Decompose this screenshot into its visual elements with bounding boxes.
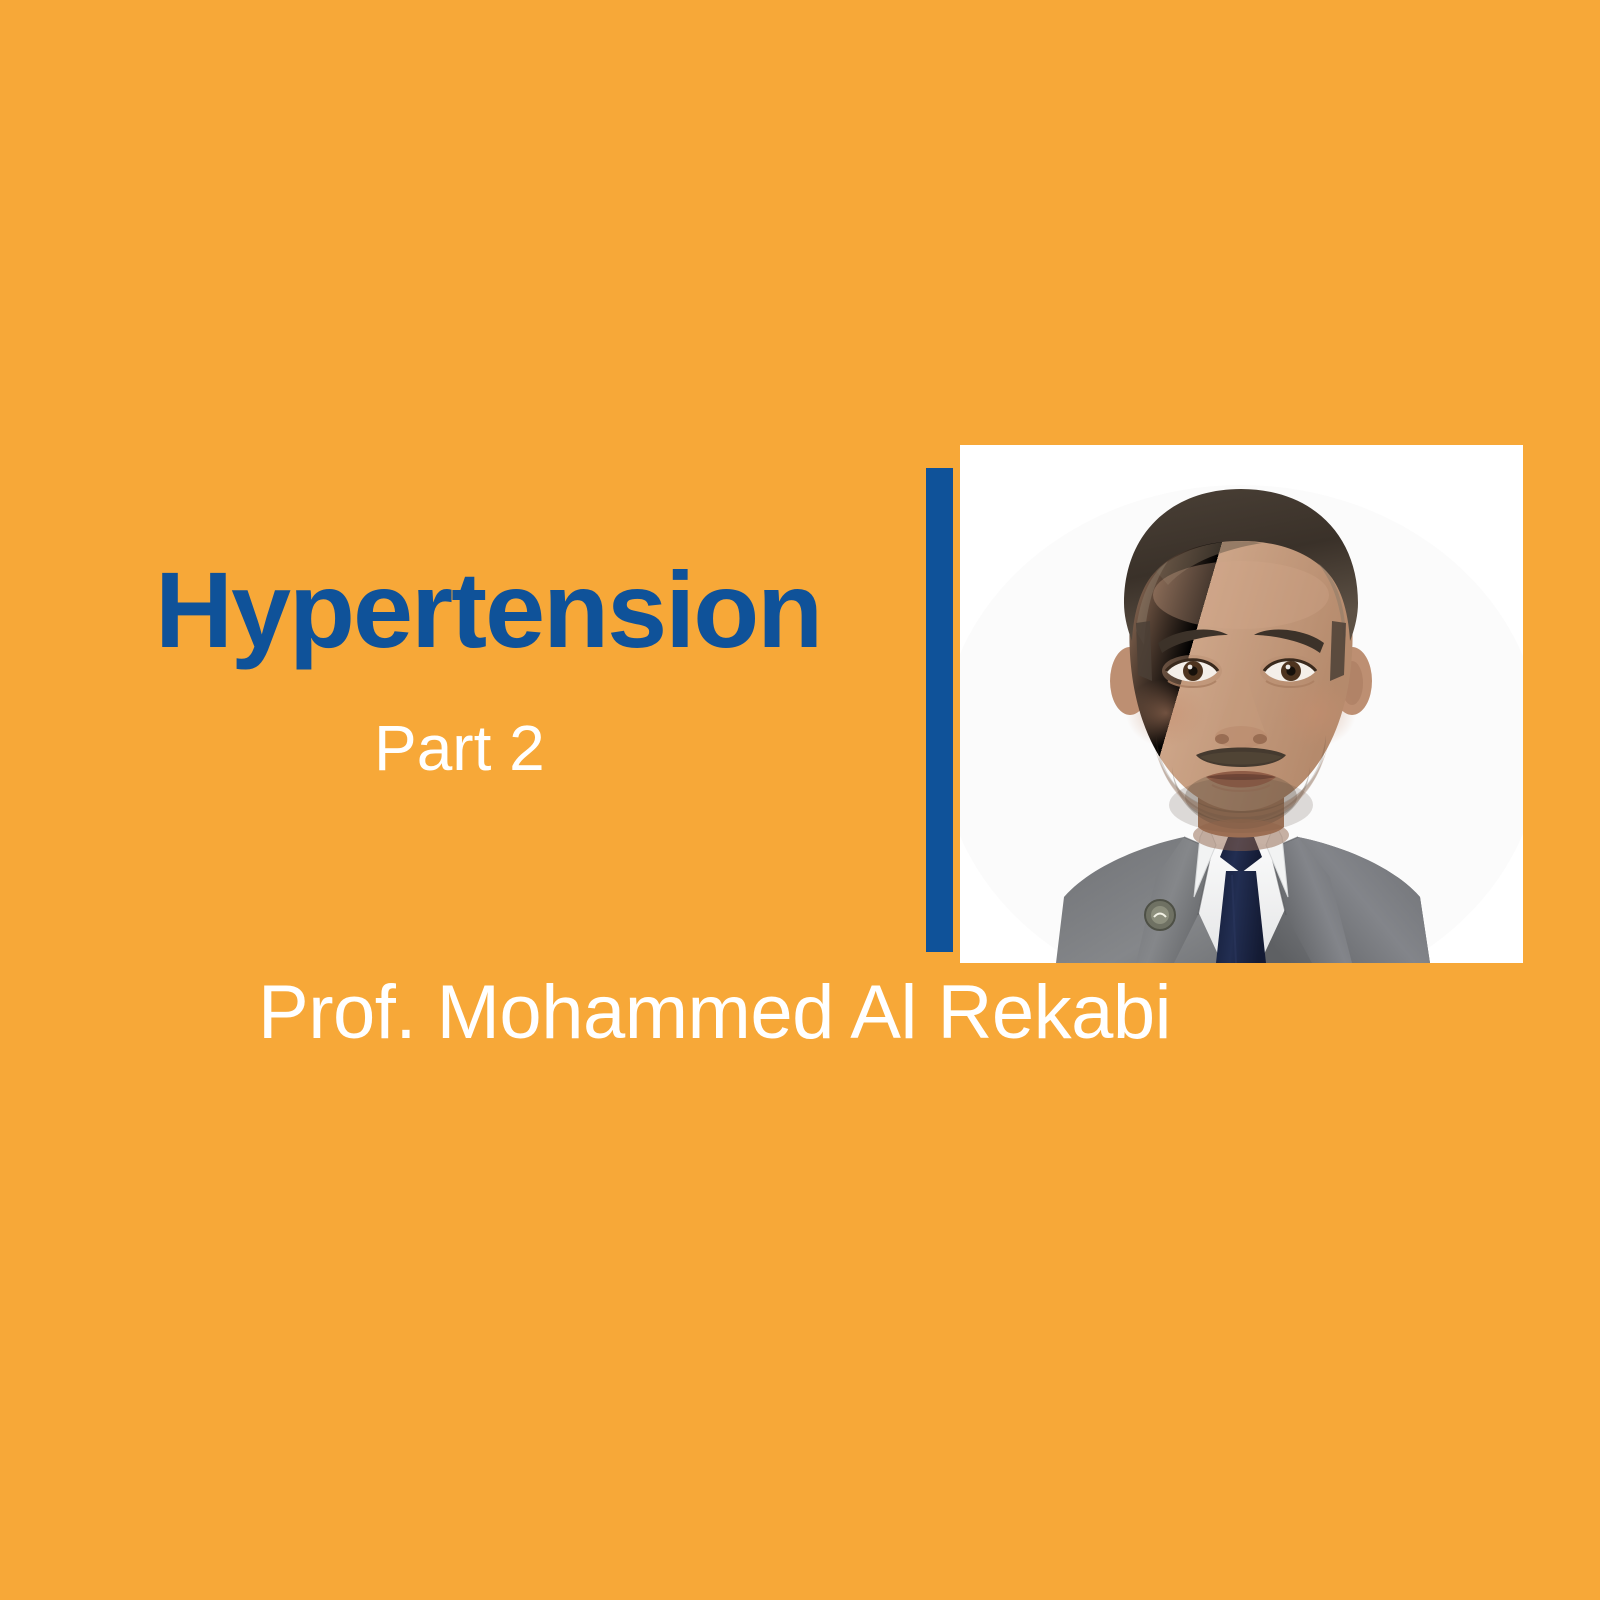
page-title: Hypertension xyxy=(155,556,821,664)
presenter-name: Prof. Mohammed Al Rekabi xyxy=(258,975,1171,1051)
presentation-slide: Hypertension Part 2 Prof. Mohammed Al Re… xyxy=(0,0,1600,1600)
subtitle-part-number: Part 2 xyxy=(374,716,545,780)
vertical-accent-bar xyxy=(926,468,953,952)
presenter-portrait-photo xyxy=(960,445,1523,963)
